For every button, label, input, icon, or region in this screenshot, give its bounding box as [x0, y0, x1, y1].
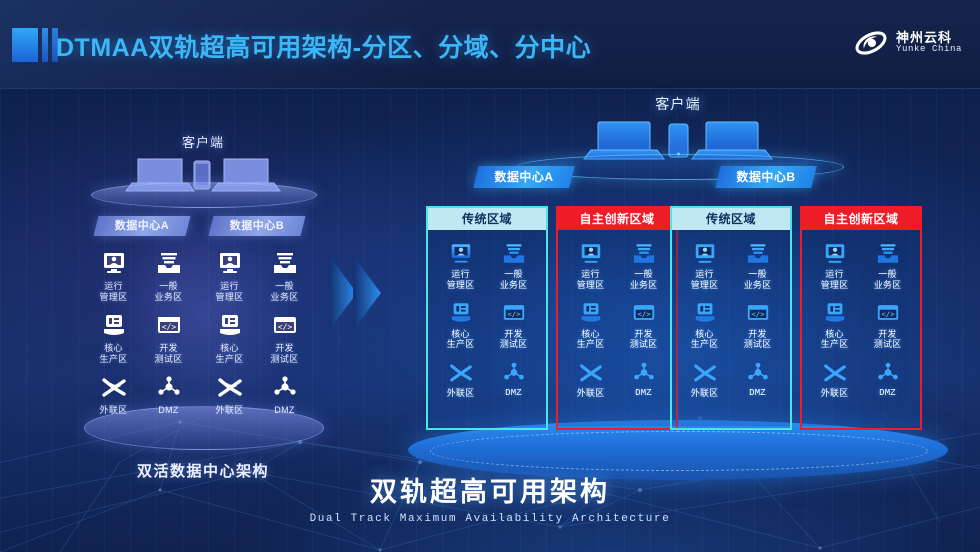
admin-zone-icon	[567, 239, 615, 267]
zone-cell[interactable]: 运行管理区	[567, 239, 615, 291]
legacy-datacenter-b-label: 数据中心B	[211, 216, 303, 236]
legacy-zone-cell: 运行管理区	[88, 248, 140, 302]
yunke-swirl-icon	[853, 26, 889, 60]
zone-row: 核心生产区 </> 开发测试区	[434, 299, 540, 351]
legacy-zone-label: DMZ	[259, 405, 311, 416]
dtmaa-datacenter-a-label: 数据中心A	[476, 166, 572, 188]
zone-label: 运行管理区	[437, 269, 485, 291]
zone-cell[interactable]: DMZ	[734, 358, 782, 399]
zone-label: 一般业务区	[490, 269, 538, 291]
zone-panel-title: 自主创新区域	[802, 208, 920, 230]
dmz-icon	[143, 372, 195, 402]
zone-panel-traditional-a[interactable]: 传统区域 运行管理区 一般业务区	[426, 206, 548, 430]
zone-cell[interactable]: 核心生产区	[567, 299, 615, 351]
legacy-zone-cell: 外联区	[88, 372, 140, 416]
legacy-zone-row: 外联区 DMZ	[202, 372, 312, 416]
zone-row: 外联区 DMZ	[808, 358, 914, 399]
zone-cell[interactable]: DMZ	[864, 358, 912, 399]
zone-label: 核心生产区	[437, 329, 485, 351]
zone-label: 一般业务区	[620, 269, 668, 291]
zone-label: DMZ	[734, 388, 782, 399]
zone-cell[interactable]: 一般业务区	[734, 239, 782, 291]
header-accent-bars	[12, 28, 58, 62]
legacy-zone-row: 外联区 DMZ	[86, 372, 196, 416]
zone-row: 核心生产区 </> 开发测试区	[564, 299, 670, 351]
transition-arrow-icon	[327, 252, 389, 334]
legacy-zone-cell: 核心生产区	[204, 310, 256, 364]
dtmaa-datacenter-b-badge: 数据中心B	[715, 166, 816, 188]
zone-cell[interactable]: 外联区	[437, 358, 485, 399]
zone-label: DMZ	[620, 388, 668, 399]
zone-panel-body: 运行管理区 一般业务区 核心生产区	[672, 230, 790, 426]
legacy-zone-label: 核心生产区	[204, 343, 256, 364]
legacy-datacenter-b-badge: 数据中心B	[209, 216, 306, 236]
zone-label: 核心生产区	[681, 329, 729, 351]
zone-row: 运行管理区 一般业务区	[564, 239, 670, 291]
footer-title-en: Dual Track Maximum Availability Architec…	[0, 513, 980, 525]
zone-label: 运行管理区	[681, 269, 729, 291]
zone-cell[interactable]: 运行管理区	[681, 239, 729, 291]
legacy-zone-label: 一般业务区	[143, 281, 195, 302]
svg-text:</>: </>	[751, 310, 765, 319]
dev-test-icon: </>	[620, 299, 668, 327]
legacy-zone-cell: 一般业务区	[143, 248, 195, 302]
zone-panel-body: 运行管理区 一般业务区 核心生产区	[428, 230, 546, 426]
business-zone-icon	[620, 239, 668, 267]
svg-text:</>: </>	[881, 310, 895, 319]
admin-zone-icon	[204, 248, 256, 278]
core-production-icon	[567, 299, 615, 327]
logo-text-en: Yunke China	[896, 45, 962, 54]
footer-title-cn: 双轨超高可用架构	[0, 470, 980, 509]
zone-label: 外联区	[811, 388, 859, 399]
external-link-icon	[811, 358, 859, 386]
zone-label: DMZ	[490, 388, 538, 399]
business-zone-icon	[490, 239, 538, 267]
legacy-zone-label: 运行管理区	[204, 281, 256, 302]
zone-label: 一般业务区	[864, 269, 912, 291]
zone-cell[interactable]: DMZ	[490, 358, 538, 399]
dmz-icon	[490, 358, 538, 386]
legacy-zone-cell: </> 开发测试区	[259, 310, 311, 364]
legacy-zone-label: 外联区	[204, 405, 256, 416]
legacy-zone-row: 核心生产区 </> 开发测试区	[202, 310, 312, 364]
legacy-zone-row: 运行管理区 一般业务区	[202, 248, 312, 302]
zone-panel-title: 自主创新区域	[558, 208, 676, 230]
dmz-icon	[620, 358, 668, 386]
legacy-datacenter-a-label: 数据中心A	[96, 216, 188, 236]
legacy-zone-row: 运行管理区 一般业务区	[86, 248, 196, 302]
zone-cell[interactable]: </> 开发测试区	[490, 299, 538, 351]
zone-label: 外联区	[437, 388, 485, 399]
external-link-icon	[567, 358, 615, 386]
zone-label: 核心生产区	[567, 329, 615, 351]
legacy-datacenter-b-zones: 运行管理区 一般业务区 核心生产区 <	[202, 248, 312, 424]
zone-panel-title: 传统区域	[428, 208, 546, 230]
zone-cell[interactable]: 核心生产区	[811, 299, 859, 351]
zone-cell[interactable]: 一般业务区	[490, 239, 538, 291]
slide-header: DTMAA双轨超高可用架构-分区、分域、分中心 神州云科 Yunke China	[0, 0, 980, 89]
dmz-icon	[734, 358, 782, 386]
legacy-zone-label: 开发测试区	[143, 343, 195, 364]
legacy-zone-cell: 核心生产区	[88, 310, 140, 364]
zone-label: 开发测试区	[490, 329, 538, 351]
dtmaa-architecture-group: 客户端 数据中心A 数据中心B 传统	[398, 88, 958, 508]
admin-zone-icon	[811, 239, 859, 267]
zone-label: 运行管理区	[567, 269, 615, 291]
external-link-icon	[681, 358, 729, 386]
dev-test-icon: </>	[490, 299, 538, 327]
external-link-icon	[88, 372, 140, 402]
legacy-zone-label: 开发测试区	[259, 343, 311, 364]
accent-bar-wide	[12, 28, 38, 62]
dev-test-icon: </>	[864, 299, 912, 327]
zone-label: 开发测试区	[864, 329, 912, 351]
dtmaa-datacenter-b-label: 数据中心B	[718, 166, 814, 188]
zone-row: 外联区 DMZ	[564, 358, 670, 399]
zone-panel-body: 运行管理区 一般业务区 核心生产区	[558, 230, 676, 426]
zone-row: 外联区 DMZ	[678, 358, 784, 399]
zone-label: 外联区	[567, 388, 615, 399]
business-zone-icon	[734, 239, 782, 267]
core-production-icon	[204, 310, 256, 340]
external-link-icon	[204, 372, 256, 402]
zone-row: 运行管理区 一般业务区	[678, 239, 784, 291]
core-production-icon	[681, 299, 729, 327]
zone-cell[interactable]: </> 开发测试区	[734, 299, 782, 351]
zone-panel-innovation-a[interactable]: 自主创新区域 运行管理区 一般业务区	[556, 206, 678, 430]
zone-cell[interactable]: 一般业务区	[620, 239, 668, 291]
zone-label: 运行管理区	[811, 269, 859, 291]
zone-cell[interactable]: 外联区	[681, 358, 729, 399]
zone-label: 核心生产区	[811, 329, 859, 351]
zone-row: 核心生产区 </> 开发测试区	[808, 299, 914, 351]
legacy-zone-cell: 运行管理区	[204, 248, 256, 302]
zone-cell[interactable]: 运行管理区	[811, 239, 859, 291]
legacy-zone-cell: 一般业务区	[259, 248, 311, 302]
svg-text:</>: </>	[161, 323, 176, 332]
core-production-icon	[811, 299, 859, 327]
zone-cell[interactable]: DMZ	[620, 358, 668, 399]
svg-text:</>: </>	[637, 310, 651, 319]
zone-cell[interactable]: 核心生产区	[437, 299, 485, 351]
dtmaa-client-label: 客户端	[398, 94, 958, 114]
legacy-zone-label: 外联区	[88, 405, 140, 416]
dev-test-icon: </>	[259, 310, 311, 340]
legacy-zone-label: 一般业务区	[259, 281, 311, 302]
legacy-client-label: 客户端	[78, 132, 328, 151]
zone-row: 核心生产区 </> 开发测试区	[678, 299, 784, 351]
legacy-zone-cell: DMZ	[143, 372, 195, 416]
core-production-icon	[437, 299, 485, 327]
dev-test-icon: </>	[143, 310, 195, 340]
zone-cell[interactable]: 外联区	[811, 358, 859, 399]
zone-row: 运行管理区 一般业务区	[808, 239, 914, 291]
zone-panel-title: 传统区域	[672, 208, 790, 230]
zone-label: 开发测试区	[620, 329, 668, 351]
legacy-zone-cell: DMZ	[259, 372, 311, 416]
business-zone-icon	[143, 248, 195, 278]
accent-bar-thin-1	[42, 28, 48, 62]
zone-cell[interactable]: 外联区	[567, 358, 615, 399]
zone-cell[interactable]: 运行管理区	[437, 239, 485, 291]
zone-row: 外联区 DMZ	[434, 358, 540, 399]
zone-row: 运行管理区 一般业务区	[434, 239, 540, 291]
svg-text:</>: </>	[507, 310, 521, 319]
svg-text:</>: </>	[277, 323, 292, 332]
admin-zone-icon	[681, 239, 729, 267]
zone-panel-innovation-b[interactable]: 自主创新区域 运行管理区 一般业务区	[800, 206, 922, 430]
legacy-datacenter-a-badge: 数据中心A	[94, 216, 191, 236]
dmz-icon	[259, 372, 311, 402]
dmz-icon	[864, 358, 912, 386]
brand-logo: 神州云科 Yunke China	[853, 26, 962, 60]
legacy-zone-label: 核心生产区	[88, 343, 140, 364]
zone-panel-body: 运行管理区 一般业务区 核心生产区	[802, 230, 920, 426]
zone-panel-traditional-b[interactable]: 传统区域 运行管理区 一般业务区	[670, 206, 792, 430]
zone-label: 外联区	[681, 388, 729, 399]
slide-canvas: DTMAA双轨超高可用架构-分区、分域、分中心 神州云科 Yunke China…	[0, 0, 980, 552]
legacy-client-platform	[91, 182, 317, 208]
dev-test-icon: </>	[734, 299, 782, 327]
legacy-zone-label: 运行管理区	[88, 281, 140, 302]
legacy-zone-row: 核心生产区 </> 开发测试区	[86, 310, 196, 364]
zone-cell[interactable]: 核心生产区	[681, 299, 729, 351]
legacy-zone-cell: </> 开发测试区	[143, 310, 195, 364]
dtmaa-datacenter-a-badge: 数据中心A	[473, 166, 574, 188]
core-production-icon	[88, 310, 140, 340]
zone-label: 开发测试区	[734, 329, 782, 351]
zone-cell[interactable]: </> 开发测试区	[864, 299, 912, 351]
zone-cell[interactable]: 一般业务区	[864, 239, 912, 291]
zone-label: DMZ	[864, 388, 912, 399]
footer-caption: 双轨超高可用架构 Dual Track Maximum Availability…	[0, 470, 980, 525]
logo-text-cn: 神州云科	[896, 31, 962, 45]
page-title: DTMAA双轨超高可用架构-分区、分域、分中心	[56, 28, 591, 64]
zone-cell[interactable]: </> 开发测试区	[620, 299, 668, 351]
legacy-architecture-group: 客户端 数据中心A 数据中心B	[78, 120, 328, 460]
legacy-datacenter-a-zones: 运行管理区 一般业务区 核心生产区 <	[86, 248, 196, 424]
external-link-icon	[437, 358, 485, 386]
business-zone-icon	[259, 248, 311, 278]
admin-zone-icon	[88, 248, 140, 278]
admin-zone-icon	[437, 239, 485, 267]
zone-label: 一般业务区	[734, 269, 782, 291]
business-zone-icon	[864, 239, 912, 267]
legacy-zone-cell: 外联区	[204, 372, 256, 416]
legacy-zone-label: DMZ	[143, 405, 195, 416]
